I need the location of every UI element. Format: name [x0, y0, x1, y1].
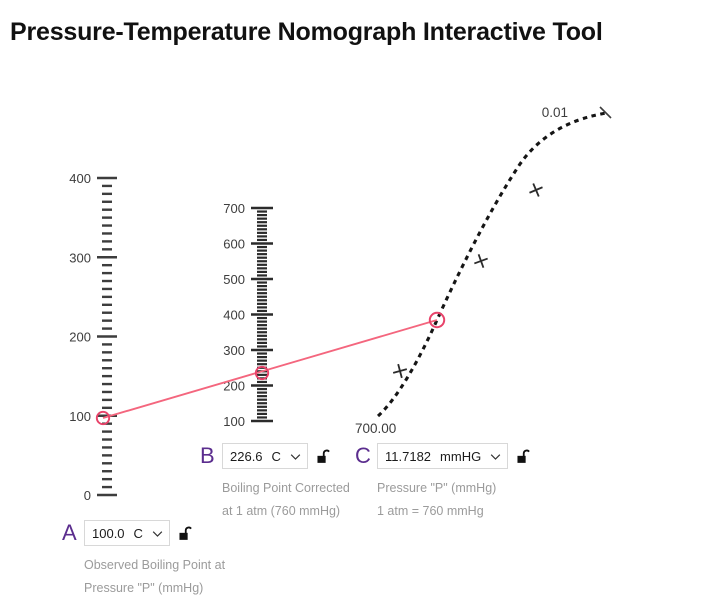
caption-b-line2: at 1 atm (760 mmHg): [222, 500, 350, 523]
value-input-c[interactable]: 11.7182: [385, 449, 431, 464]
chevron-down-icon[interactable]: [289, 450, 302, 463]
index-line[interactable]: [97, 313, 444, 424]
axis-tick-label: 200: [223, 379, 245, 394]
caption-c-line2: 1 atm = 760 mmHg: [377, 500, 534, 523]
value-input-a[interactable]: 100.0: [92, 526, 125, 541]
padlock-open-icon[interactable]: [315, 447, 334, 466]
scale-b-axis: 100200300400500600700: [223, 201, 273, 429]
axis-tick-label: 600: [223, 237, 245, 252]
padlock-open-icon[interactable]: [177, 524, 196, 543]
value-box-a[interactable]: 100.0 C: [84, 520, 170, 546]
axis-tick-label: 300: [69, 250, 91, 265]
caption-b-line1: Boiling Point Corrected: [222, 477, 350, 500]
chevron-down-icon[interactable]: [151, 527, 164, 540]
curve-top-label: 0.01: [542, 105, 568, 120]
caption-c-line1: Pressure "P" (mmHg): [377, 477, 534, 500]
axis-tick-label: 700: [223, 201, 245, 216]
caption-a-line2: Pressure "P" (mmHg): [84, 577, 225, 600]
unit-select-c[interactable]: mmHG: [440, 449, 502, 464]
value-box-b[interactable]: 226.6 C: [222, 443, 308, 469]
axis-tick-label: 400: [223, 308, 245, 323]
unit-label-c: mmHG: [440, 449, 481, 464]
unit-select-a[interactable]: C: [134, 526, 164, 541]
unit-select-b[interactable]: C: [272, 449, 302, 464]
axis-tick-label: 100: [69, 409, 91, 424]
axis-tick-label: 200: [69, 330, 91, 345]
axis-tick-label: 500: [223, 272, 245, 287]
unit-label-b: C: [272, 449, 281, 464]
chevron-down-icon[interactable]: [489, 450, 502, 463]
unit-label-a: C: [134, 526, 143, 541]
axis-tick-label: 0: [84, 488, 91, 503]
value-input-b[interactable]: 226.6: [230, 449, 263, 464]
curve-cross-markers: [393, 183, 542, 377]
value-box-c[interactable]: 11.7182 mmHG: [377, 443, 508, 469]
axis-tick-label: 400: [69, 171, 91, 186]
scale-c-curve: 0.01 700.00: [355, 105, 611, 436]
axis-tick-label: 300: [223, 343, 245, 358]
scale-letter-a: A: [62, 522, 84, 544]
control-group-b: B 226.6 C Boiling Point Corrected at 1 a…: [200, 441, 350, 523]
control-group-c: C 11.7182 mmHG Pressure "P" (mmHg) 1 atm…: [355, 441, 534, 523]
scale-letter-b: B: [200, 445, 222, 467]
curve-bottom-label: 700.00: [355, 421, 396, 436]
axis-tick-label: 100: [223, 414, 245, 429]
scale-letter-c: C: [355, 445, 377, 467]
padlock-open-icon[interactable]: [515, 447, 534, 466]
caption-a-line1: Observed Boiling Point at: [84, 554, 225, 577]
scale-a-axis: 0100200300400: [69, 171, 117, 503]
control-group-a: A 100.0 C Observed Boiling Point at Pres…: [62, 518, 225, 600]
